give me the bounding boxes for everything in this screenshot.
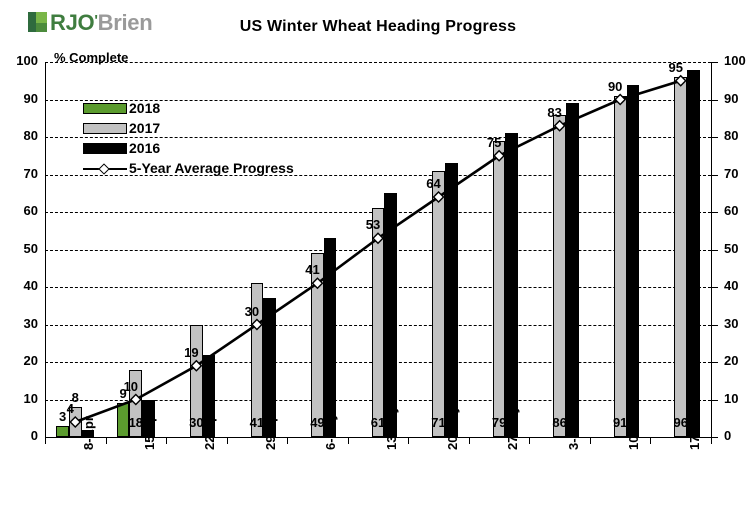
average-marker — [131, 395, 141, 405]
average-marker — [615, 95, 625, 105]
average-value-label: 41 — [299, 262, 325, 277]
average-marker — [676, 76, 686, 86]
y-axis-tick-right: 80 — [724, 128, 754, 143]
y-axis-tick-right: 60 — [724, 203, 754, 218]
y-axis-tick-left: 80 — [0, 128, 38, 143]
average-value-label: 19 — [178, 345, 204, 360]
average-marker — [70, 417, 80, 427]
y-axis-tick-right: 30 — [724, 316, 754, 331]
average-value-label: 10 — [118, 379, 144, 394]
page-title: US Winter Wheat Heading Progress — [0, 18, 756, 36]
average-value-label: 53 — [360, 217, 386, 232]
average-value-label: 95 — [663, 60, 689, 75]
y-axis-tick-right: 50 — [724, 241, 754, 256]
y-axis-tick-right: 20 — [724, 353, 754, 368]
average-value-label: 83 — [542, 105, 568, 120]
y-axis-tick-right: 90 — [724, 91, 754, 106]
average-progress-line — [45, 62, 713, 439]
y-axis-tick-right: 0 — [724, 428, 754, 443]
average-value-label: 75 — [481, 135, 507, 150]
y-axis-tick-left: 60 — [0, 203, 38, 218]
y-axis-tick-left: 30 — [0, 316, 38, 331]
average-value-label: 30 — [239, 304, 265, 319]
y-axis-tick-left: 100 — [0, 53, 38, 68]
y-axis-tick-right: 10 — [724, 391, 754, 406]
y-axis-tick-left: 70 — [0, 166, 38, 181]
y-axis-tick-left: 40 — [0, 278, 38, 293]
y-axis-tick-right: 40 — [724, 278, 754, 293]
chart-page: RJO'Brien US Winter Wheat Heading Progre… — [0, 0, 756, 516]
y-axis-tick-right: 70 — [724, 166, 754, 181]
average-value-label: 64 — [421, 176, 447, 191]
average-value-label: 4 — [57, 401, 83, 416]
y-axis-tick-left: 90 — [0, 91, 38, 106]
y-axis-tick-left: 0 — [0, 428, 38, 443]
average-value-label: 90 — [602, 79, 628, 94]
y-axis-tick-left: 20 — [0, 353, 38, 368]
y-axis-tick-right: 100 — [724, 53, 754, 68]
y-axis-tick-left: 50 — [0, 241, 38, 256]
y-axis-tick-left: 10 — [0, 391, 38, 406]
average-marker — [555, 121, 565, 131]
